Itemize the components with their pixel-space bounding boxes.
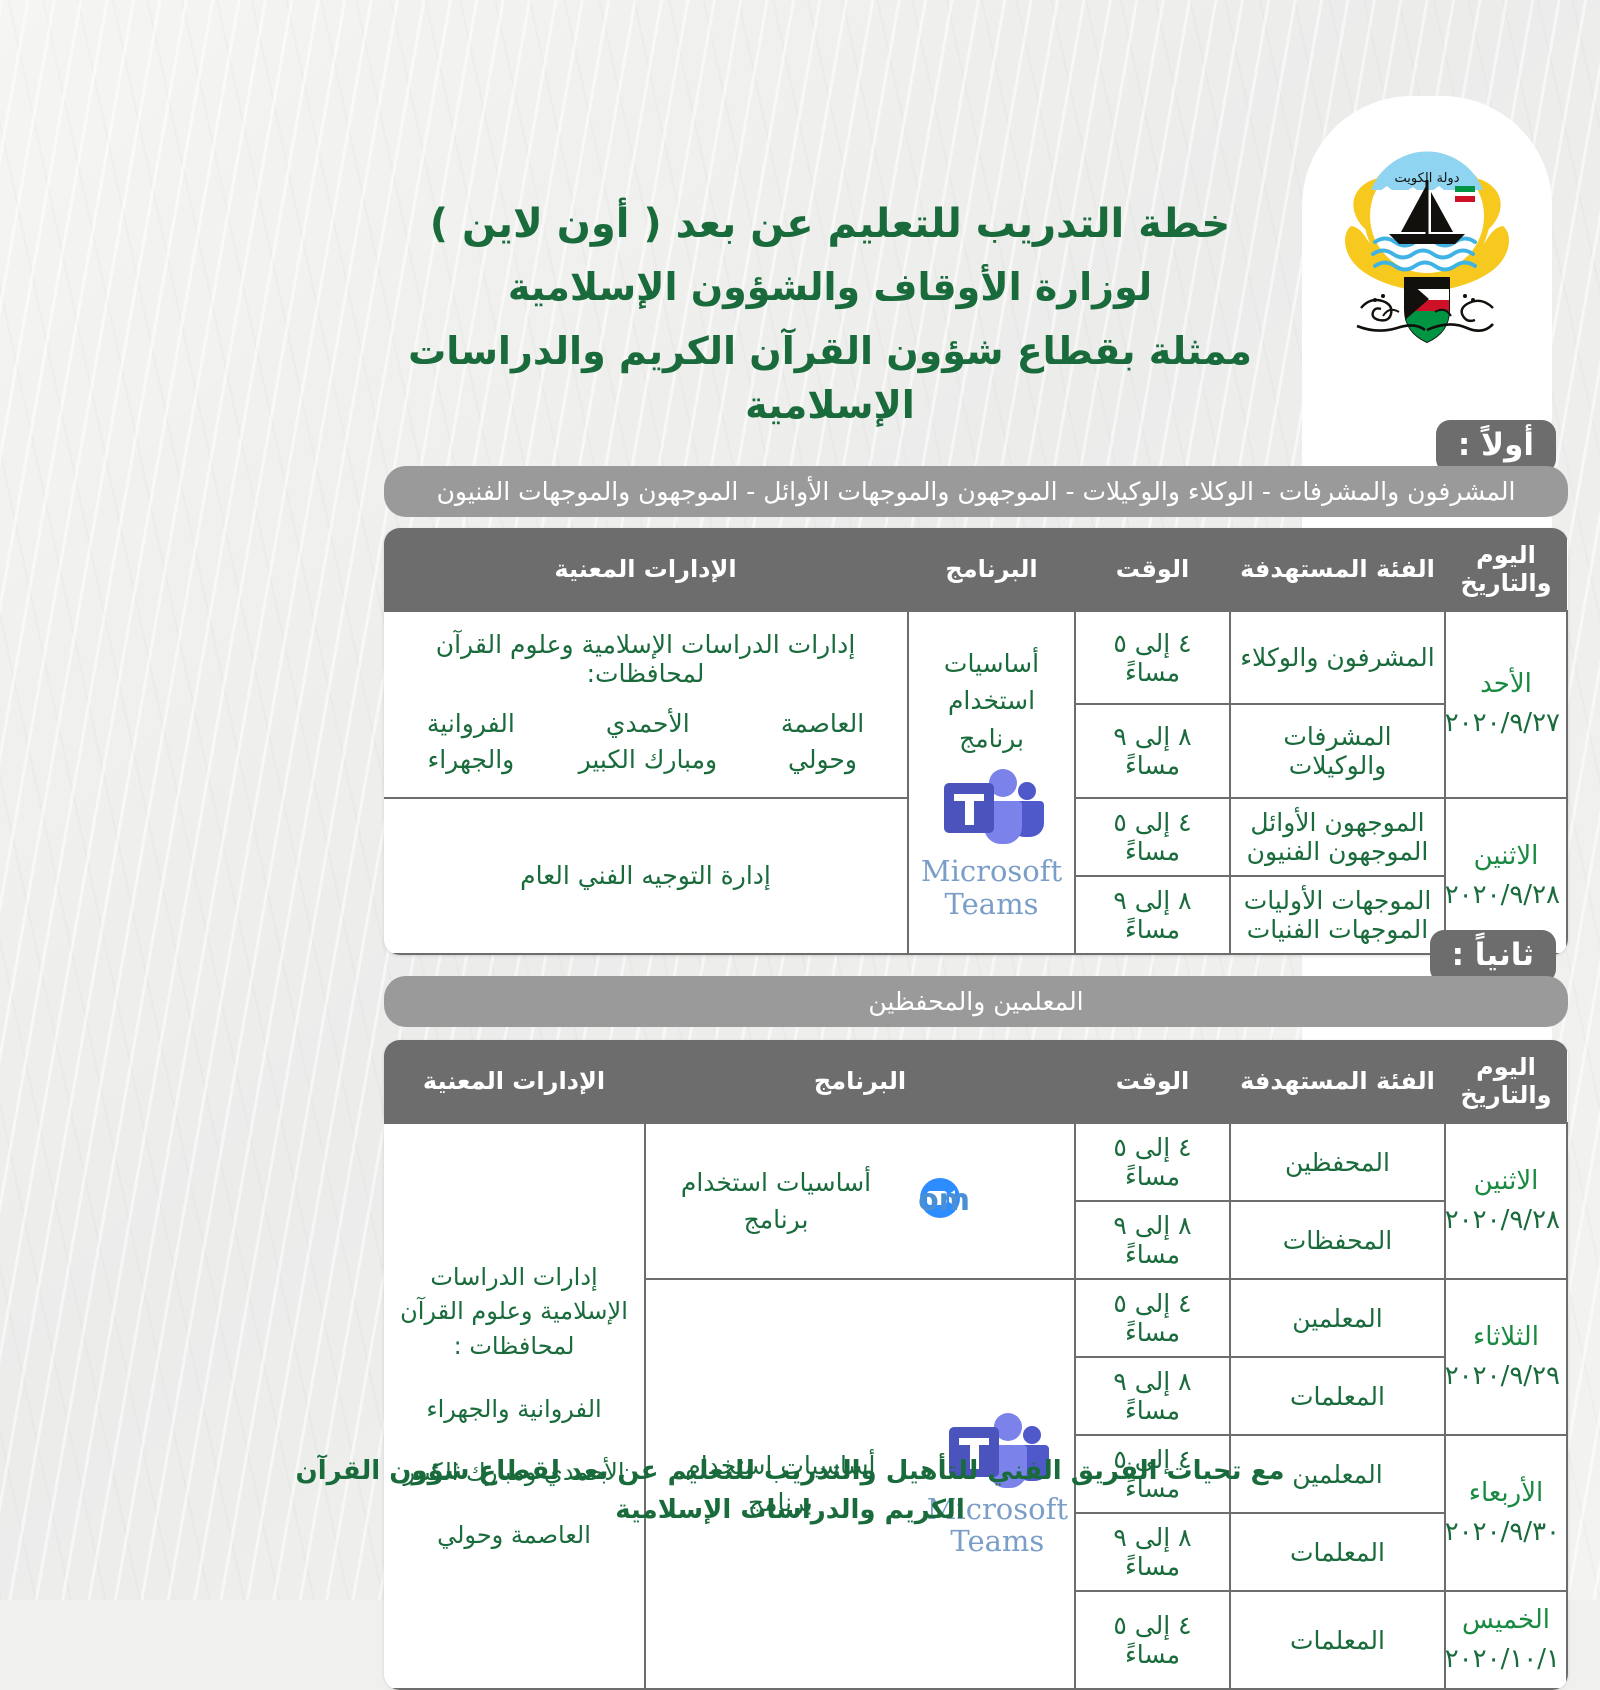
cell-target: المحفظات bbox=[1230, 1201, 1445, 1279]
teams-label-2: Teams bbox=[921, 888, 1062, 920]
cell-time: ٨ إلى ٩ مساءً bbox=[1075, 876, 1230, 954]
program-text-2: استخدام bbox=[915, 682, 1068, 720]
date-label: ٢٠٢٠/٩/٢٩ bbox=[1452, 1357, 1560, 1396]
program-text-zoom: أساسيات استخدام برنامج bbox=[652, 1164, 900, 1239]
date-label: ٢٠٢٠/١٠/١ bbox=[1452, 1640, 1560, 1679]
target-line-2: الموجهات الفنيات bbox=[1237, 915, 1438, 944]
cell-date-thursday: الخميس ٢٠٢٠/١٠/١ bbox=[1445, 1591, 1567, 1689]
infographic-page: دولة الكويت bbox=[0, 0, 1600, 1600]
zoom-logo-icon: zoom bbox=[918, 1176, 1068, 1226]
departments-heading-3: لمحافظات : bbox=[392, 1329, 636, 1364]
cell-target: الموجهون الأوائل الموجهون الفنيون bbox=[1230, 798, 1445, 876]
date-label: ٢٠٢٠/٩/٢٨ bbox=[1452, 1201, 1560, 1240]
cell-target: المعلمات bbox=[1230, 1591, 1445, 1689]
title-line-2: لوزارة الأوقاف والشؤون الإسلامية bbox=[360, 261, 1300, 315]
cell-program-teams: أساسيات استخدام برنامج bbox=[908, 611, 1075, 954]
departments-heading: إدارات الدراسات الإسلامية وعلوم القرآن ل… bbox=[398, 630, 893, 688]
program-text-1: أساسيات bbox=[915, 645, 1068, 683]
teams-label-1: Microsoft bbox=[921, 855, 1062, 887]
dept-text: الفروانية bbox=[427, 709, 515, 738]
th-day-date: اليوم والتاريخ bbox=[1445, 1040, 1567, 1123]
th-departments: الإدارات المعنية bbox=[384, 1040, 645, 1123]
title-line-1: خطة التدريب للتعليم عن بعد ( أون لاين ) bbox=[360, 196, 1300, 253]
zoom-wordmark: zoom bbox=[918, 1183, 970, 1218]
th-time: الوقت bbox=[1075, 528, 1230, 611]
section-2-audience-bar: المعلمين والمحفظين bbox=[384, 976, 1568, 1027]
departments-col-3: العاصمة وحولي bbox=[781, 706, 864, 779]
day-label: الاثنين bbox=[1452, 1162, 1560, 1201]
cell-time: ٨ إلى ٩ مساءً bbox=[1075, 704, 1230, 797]
cell-program-zoom: zoom أساسيات استخدام برنامج bbox=[645, 1123, 1075, 1279]
emblem-state-name: دولة الكويت bbox=[1395, 171, 1460, 186]
target-line-1: الموجهون الأوائل bbox=[1237, 808, 1438, 837]
cell-departments-1: إدارات الدراسات الإسلامية وعلوم القرآن ل… bbox=[384, 611, 908, 798]
cell-time: ٨ إلى ٩ مساءً bbox=[1075, 1201, 1230, 1279]
cell-time: ٨ إلى ٩ مساءً bbox=[1075, 1357, 1230, 1435]
th-program: البرنامج bbox=[645, 1040, 1075, 1123]
th-departments: الإدارات المعنية bbox=[384, 528, 908, 611]
departments-heading-2: الإسلامية وعلوم القرآن bbox=[392, 1294, 636, 1329]
dept-text: وحولي bbox=[788, 745, 857, 774]
th-time: الوقت bbox=[1075, 1040, 1230, 1123]
cell-time: ٤ إلى ٥ مساءً bbox=[1075, 1591, 1230, 1689]
day-label: الخميس bbox=[1452, 1601, 1560, 1640]
cell-date-monday: الاثنين ٢٠٢٠/٩/٢٨ bbox=[1445, 1123, 1567, 1279]
cell-target: المعلمين bbox=[1230, 1279, 1445, 1357]
th-target: الفئة المستهدفة bbox=[1230, 528, 1445, 611]
cell-time: ٤ إلى ٥ مساءً bbox=[1075, 611, 1230, 704]
training-table-1: اليوم والتاريخ الفئة المستهدفة الوقت الب… bbox=[384, 528, 1568, 955]
day-label: الأربعاء bbox=[1452, 1474, 1560, 1513]
cell-date-sunday: الأحد ٢٠٢٠/٩/٢٧ bbox=[1445, 611, 1567, 798]
date-label: ٢٠٢٠/٩/٢٨ bbox=[1452, 876, 1560, 915]
page-title-block: خطة التدريب للتعليم عن بعد ( أون لاين ) … bbox=[360, 196, 1300, 433]
th-target: الفئة المستهدفة bbox=[1230, 1040, 1445, 1123]
departments-col-2: الأحمدي ومبارك الكبير bbox=[579, 706, 718, 779]
cell-time: ٤ إلى ٥ مساءً bbox=[1075, 1123, 1230, 1201]
program-text-3: برنامج bbox=[915, 720, 1068, 758]
day-label: الأحد bbox=[1452, 665, 1560, 704]
table-2-header-row: اليوم والتاريخ الفئة المستهدفة الوقت الب… bbox=[384, 1040, 1567, 1123]
section-1-audience-bar: المشرفون والمشرفات - الوكلاء والوكيلات -… bbox=[384, 466, 1568, 517]
title-line-3: ممثلة بقطاع شؤون القرآن الكريم والدراسات… bbox=[360, 325, 1300, 433]
day-label: الثلاثاء bbox=[1452, 1318, 1560, 1357]
departments-heading-1: إدارات الدراسات bbox=[392, 1260, 636, 1295]
cell-date-tuesday: الثلاثاء ٢٠٢٠/٩/٢٩ bbox=[1445, 1279, 1567, 1435]
target-line-2: الموجهون الفنيون bbox=[1237, 837, 1438, 866]
th-day-date: اليوم والتاريخ bbox=[1445, 528, 1567, 611]
cell-target: المعلمات bbox=[1230, 1357, 1445, 1435]
cell-departments: إدارات الدراسات الإسلامية وعلوم القرآن ل… bbox=[384, 1123, 645, 1689]
department-item: الفروانية والجهراء bbox=[392, 1392, 636, 1427]
dept-text: والجهراء bbox=[427, 745, 514, 774]
table-1-header-row: اليوم والتاريخ الفئة المستهدفة الوقت الب… bbox=[384, 528, 1567, 611]
cell-date-wednesday: الأربعاء ٢٠٢٠/٩/٣٠ bbox=[1445, 1435, 1567, 1591]
dept-text: الأحمدي bbox=[606, 709, 690, 738]
cell-departments-2: إدارة التوجيه الفني العام bbox=[384, 798, 908, 954]
training-table-2: اليوم والتاريخ الفئة المستهدفة الوقت الب… bbox=[384, 1040, 1568, 1690]
departments-col-1: الفروانية والجهراء bbox=[427, 706, 515, 779]
footer-note: مع تحيات الفريق الفني للتأهيل والتدريب ل… bbox=[280, 1452, 1300, 1530]
cell-target: الموجهات الأوليات الموجهات الفنيات bbox=[1230, 876, 1445, 954]
table-row: الاثنين ٢٠٢٠/٩/٢٨ المحفظين ٤ إلى ٥ مساءً bbox=[384, 1123, 1567, 1201]
dept-text: العاصمة bbox=[781, 709, 864, 738]
cell-time: ٤ إلى ٥ مساءً bbox=[1075, 1279, 1230, 1357]
cell-time: ٤ إلى ٥ مساءً bbox=[1075, 798, 1230, 876]
target-line-1: الموجهات الأوليات bbox=[1237, 886, 1438, 915]
microsoft-teams-logo-icon bbox=[940, 767, 1044, 851]
date-label: ٢٠٢٠/٩/٢٧ bbox=[1452, 704, 1560, 743]
date-label: ٢٠٢٠/٩/٣٠ bbox=[1452, 1513, 1560, 1552]
dept-text: ومبارك الكبير bbox=[579, 745, 718, 774]
cell-target: المحفظين bbox=[1230, 1123, 1445, 1201]
cell-target: المشرفون والوكلاء bbox=[1230, 611, 1445, 704]
kuwait-state-emblem-icon: دولة الكويت bbox=[1327, 130, 1527, 374]
th-program: البرنامج bbox=[908, 528, 1075, 611]
day-label: الاثنين bbox=[1452, 837, 1560, 876]
table-row: الأحد ٢٠٢٠/٩/٢٧ المشرفون والوكلاء ٤ إلى … bbox=[384, 611, 1567, 704]
cell-target: المشرفات والوكيلات bbox=[1230, 704, 1445, 797]
